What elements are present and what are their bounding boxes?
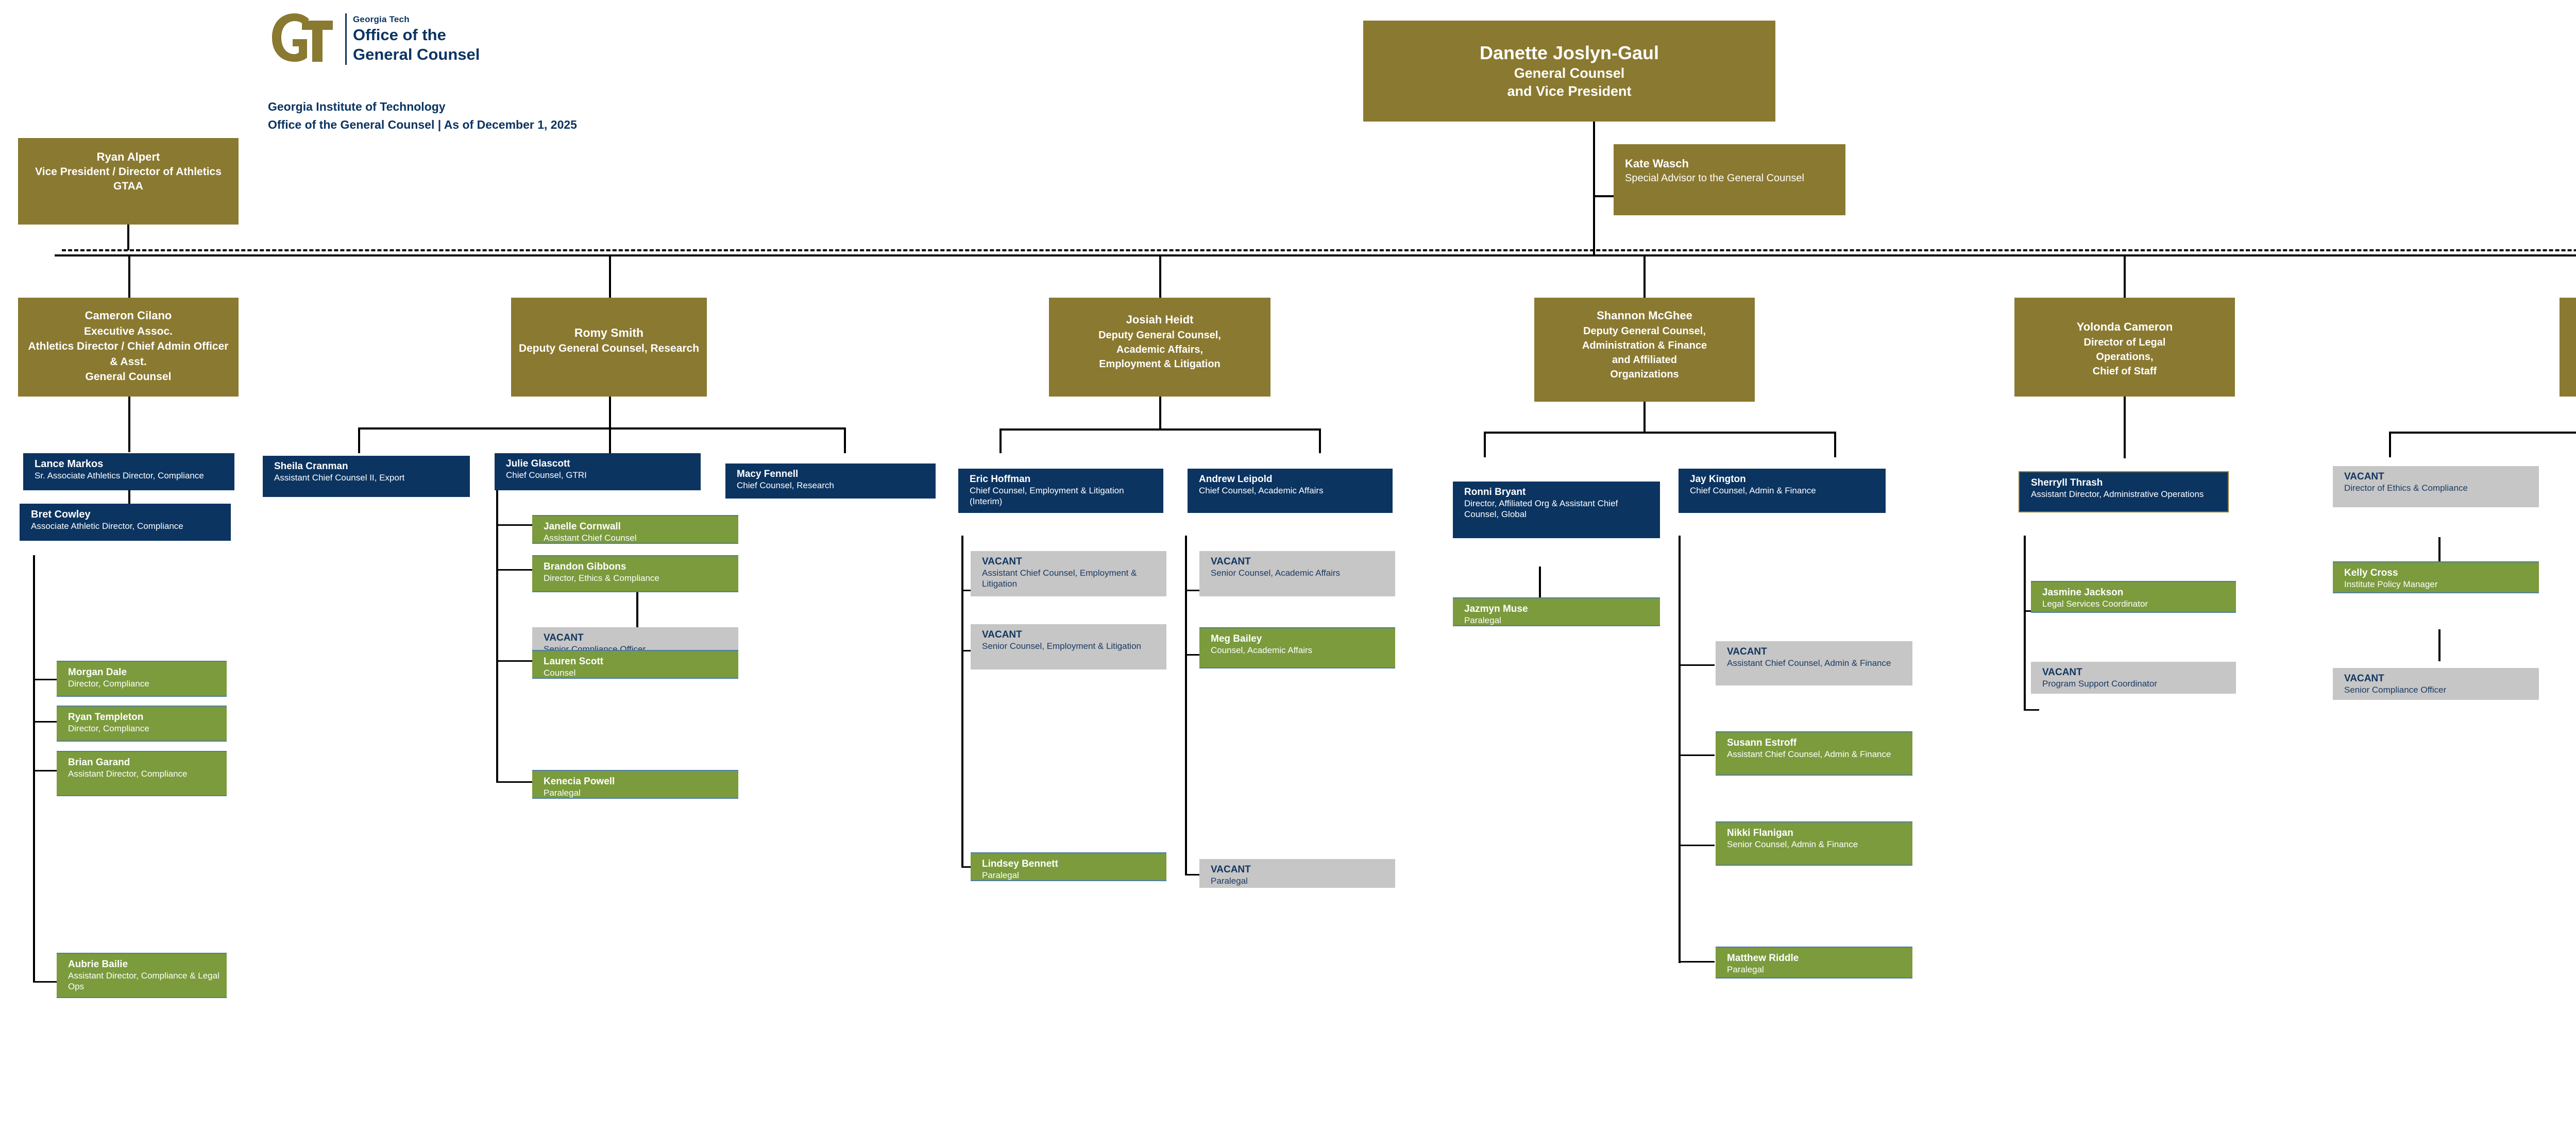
connector <box>1679 664 1715 666</box>
node-title: Director, Ethics & Compliance <box>544 573 732 583</box>
connector <box>128 397 130 452</box>
node-shannon-mcghee[interactable]: Shannon McGhee Deputy General Counsel, A… <box>1534 298 1755 402</box>
node-eric-hoffman[interactable]: Eric Hoffman Chief Counsel, Employment &… <box>958 469 1163 513</box>
logo-top-line: Georgia Tech <box>353 14 480 25</box>
node-title: Chief Counsel, GTRI <box>506 470 694 480</box>
connector <box>999 428 1002 453</box>
node-name: Sherryll Thrash <box>2031 477 2222 489</box>
node-special-advisor[interactable]: Kate Wasch Special Advisor to the Genera… <box>1614 144 1845 215</box>
node-title: Assistant Chief Counsel II, Export <box>274 472 464 483</box>
node-name: Romy Smith <box>574 324 643 341</box>
node-title: Paralegal <box>982 870 1160 881</box>
connector-main-spine <box>55 254 2576 256</box>
connector <box>636 590 638 628</box>
connector <box>33 721 58 723</box>
connector <box>2124 254 2126 299</box>
node-jay-kington[interactable]: Jay Kington Chief Counsel, Admin & Finan… <box>1679 469 1886 513</box>
node-janelle-cornwall[interactable]: Janelle Cornwall Assistant Chief Counsel <box>532 515 738 544</box>
node-name: Ryan Alpert <box>97 149 160 165</box>
node-meg-bailey[interactable]: Meg Bailey Counsel, Academic Affairs <box>1199 627 1395 668</box>
node-name: Josiah Heidt <box>1126 312 1194 328</box>
connector <box>496 484 498 783</box>
node-name: VACANT <box>1211 864 1389 875</box>
connector <box>2024 536 2026 711</box>
connector <box>358 427 845 430</box>
logo-wordmark: Georgia Tech Office of the General Couns… <box>353 14 480 64</box>
node-vacant-program-support-coordinator[interactable]: VACANT Program Support Coordinator <box>2031 662 2236 694</box>
node-title: Special Advisor to the General Counsel <box>1625 171 1804 185</box>
node-title: Assistant Chief Counsel <box>544 533 732 543</box>
connector <box>1679 961 1715 963</box>
org-chart-canvas: Georgia Tech Office of the General Couns… <box>0 0 2576 1133</box>
node-name: Cameron Cilano <box>85 308 172 324</box>
node-title: Paralegal <box>1464 615 1654 626</box>
node-julie-glascott[interactable]: Julie Glascott Chief Counsel, GTRI <box>495 453 701 490</box>
node-name: Sheila Cranman <box>274 461 464 472</box>
connector <box>33 981 58 983</box>
node-title: Executive Assoc. Athletics Director / Ch… <box>23 324 233 385</box>
node-title: Assistant Chief Counsel, Admin & Finance <box>1727 749 1906 760</box>
connector <box>33 555 35 983</box>
node-name: Eric Hoffman <box>970 474 1157 485</box>
node-title: Associate Athletic Director, Compliance <box>31 521 225 531</box>
node-sherryll-thrash[interactable]: Sherryll Thrash Assistant Director, Admi… <box>2019 471 2229 512</box>
connector <box>1643 402 1646 434</box>
institution-name: Georgia Institute of Technology <box>268 98 711 116</box>
node-bret-cowley[interactable]: Bret Cowley Associate Athletic Director,… <box>20 504 231 541</box>
node-name: VACANT <box>1727 646 1906 658</box>
node-vacant-senior-compliance-officer-ethics[interactable]: VACANT Senior Compliance Officer <box>2333 668 2539 700</box>
node-macy-fennell[interactable]: Macy Fennell Chief Counsel, Research <box>725 463 936 499</box>
node-title: Counsel, Academic Affairs <box>1211 645 1389 656</box>
node-kelly-cross[interactable]: Kelly Cross Institute Policy Manager <box>2333 561 2539 593</box>
node-lance-markos[interactable]: Lance Markos Sr. Associate Athletics Dir… <box>23 453 234 490</box>
node-title: Institute Policy Manager <box>2344 579 2533 590</box>
node-matthew-riddle[interactable]: Matthew Riddle Paralegal <box>1716 947 1912 978</box>
node-name: Susann Estroff <box>1727 737 1906 749</box>
connector <box>1679 754 1715 756</box>
office-and-date: Office of the General Counsel | As of De… <box>268 116 711 134</box>
connector <box>33 679 58 680</box>
node-title: Deputy General Counsel, Research <box>519 341 699 356</box>
node-title: Assistant Director, Administrative Opera… <box>2031 489 2222 500</box>
connector <box>1159 397 1161 430</box>
node-title: Paralegal <box>544 787 732 798</box>
node-name: VACANT <box>2344 471 2533 483</box>
connector <box>609 397 611 428</box>
connector <box>2438 629 2441 661</box>
connector <box>1484 432 1834 434</box>
node-title: Counsel <box>544 667 732 678</box>
node-susann-estroff[interactable]: Susann Estroff Assistant Chief Counsel, … <box>1716 731 1912 776</box>
node-name: VACANT <box>544 632 732 644</box>
node-title: Director of Ethics & Compliance <box>2344 483 2533 493</box>
node-name: Aubrie Bailie <box>68 959 221 970</box>
connector <box>1185 536 1187 875</box>
node-name: Matthew Riddle <box>1727 953 1906 964</box>
node-name: Brandon Gibbons <box>544 561 732 573</box>
connector <box>1484 432 1486 457</box>
node-vacant-acc-admin-finance[interactable]: VACANT Assistant Chief Counsel, Admin & … <box>1716 641 1912 685</box>
node-general-counsel[interactable]: Danette Joslyn-Gaul General Counsel and … <box>1363 21 1775 122</box>
connector <box>128 254 130 299</box>
node-title: Senior Counsel, Academic Affairs <box>1211 568 1389 578</box>
node-kenecia-powell[interactable]: Kenecia Powell Paralegal <box>532 770 738 799</box>
node-jasmine-jackson[interactable]: Jasmine Jackson Legal Services Coordinat… <box>2031 581 2236 613</box>
connector <box>609 254 611 299</box>
connector <box>844 427 846 453</box>
node-ryan-templeton[interactable]: Ryan Templeton Director, Compliance <box>57 706 227 742</box>
georgia-tech-gt-mark <box>268 9 340 66</box>
node-brandon-gibbons[interactable]: Brandon Gibbons Director, Ethics & Compl… <box>532 555 738 592</box>
node-name: Kelly Cross <box>2344 568 2533 579</box>
node-sheila-cranman[interactable]: Sheila Cranman Assistant Chief Counsel I… <box>263 456 470 497</box>
node-name: VACANT <box>1211 556 1389 568</box>
connector <box>1185 590 1199 591</box>
connector <box>496 660 532 662</box>
node-name: Yolonda Cameron <box>2077 319 2173 335</box>
node-vacant-director-ethics-compliance[interactable]: VACANT Director of Ethics & Compliance <box>2333 466 2539 507</box>
logo-line-3: General Counsel <box>353 45 480 64</box>
node-vacant-senior-counsel-employment-litigation[interactable]: VACANT Senior Counsel, Employment & Liti… <box>971 624 1166 669</box>
logo-line-2: Office of the <box>353 25 480 45</box>
connector <box>1185 654 1199 656</box>
node-title: Director, Affiliated Org & Assistant Chi… <box>1464 498 1654 520</box>
node-name: Nikki Flanigan <box>1727 828 1906 839</box>
node-jazmyn-muse[interactable]: Jazmyn Muse Paralegal <box>1453 597 1660 626</box>
node-joshua-toas[interactable]: Joshua Toas Chief Ethics and Compliance … <box>2560 298 2576 397</box>
node-name: Kenecia Powell <box>544 776 732 787</box>
node-title: Paralegal <box>1727 964 1906 975</box>
connector <box>496 524 532 526</box>
connector <box>609 427 611 453</box>
node-name: Jasmine Jackson <box>2042 587 2230 598</box>
node-josiah-heidt[interactable]: Josiah Heidt Deputy General Counsel, Aca… <box>1049 298 1270 397</box>
node-romy-smith[interactable]: Romy Smith Deputy General Counsel, Resea… <box>511 298 707 397</box>
node-title: Paralegal <box>1211 875 1389 886</box>
connector <box>1679 845 1715 846</box>
node-title: Assistant Director, Compliance <box>68 768 221 779</box>
node-ronni-bryant[interactable]: Ronni Bryant Director, Affiliated Org & … <box>1453 482 1660 538</box>
node-title: Assistant Chief Counsel, Employment & Li… <box>982 568 1160 590</box>
node-name: Andrew Leipold <box>1199 474 1386 485</box>
node-name: Ryan Templeton <box>68 712 221 723</box>
node-name: VACANT <box>2344 673 2533 684</box>
node-title: Sr. Associate Athletics Director, Compli… <box>35 470 228 481</box>
node-name: Kate Wasch <box>1625 157 1689 171</box>
node-name: VACANT <box>982 556 1160 568</box>
node-title: Assistant Director, Compliance & Legal O… <box>68 970 221 992</box>
node-ryan-alpert[interactable]: Ryan Alpert Vice President / Director of… <box>18 138 239 225</box>
node-name: Ronni Bryant <box>1464 487 1654 498</box>
node-vacant-paralegal-academic-affairs[interactable]: VACANT Paralegal <box>1199 859 1395 888</box>
connector <box>1319 428 1321 453</box>
node-title: Chief Counsel, Research <box>737 480 929 491</box>
node-name: Bret Cowley <box>31 509 225 521</box>
node-title: Senior Counsel, Admin & Finance <box>1727 839 1906 850</box>
node-title: Director of Legal Operations, Chief of S… <box>2084 335 2166 379</box>
connector <box>1643 254 1646 299</box>
node-aubrie-bailie[interactable]: Aubrie Bailie Assistant Director, Compli… <box>57 953 227 998</box>
node-title: Program Support Coordinator <box>2042 678 2230 689</box>
node-name: VACANT <box>982 629 1160 641</box>
node-morgan-dale[interactable]: Morgan Dale Director, Compliance <box>57 661 227 697</box>
node-title: General Counsel and Vice President <box>1507 64 1631 100</box>
connector <box>2124 397 2126 458</box>
node-name: Brian Garand <box>68 757 221 768</box>
connector <box>1539 566 1541 598</box>
node-name: Jazmyn Muse <box>1464 604 1654 615</box>
node-name: Danette Joslyn-Gaul <box>1480 41 1659 64</box>
node-brian-garand[interactable]: Brian Garand Assistant Director, Complia… <box>57 751 227 796</box>
connector <box>1834 432 1836 457</box>
node-name: Shannon McGhee <box>1597 308 1692 324</box>
node-title: Legal Services Coordinator <box>2042 598 2230 609</box>
node-title: Director, Compliance <box>68 723 221 734</box>
node-vacant-senior-counsel-academic-affairs[interactable]: VACANT Senior Counsel, Academic Affairs <box>1199 551 1395 596</box>
node-nikki-flanigan[interactable]: Nikki Flanigan Senior Counsel, Admin & F… <box>1716 821 1912 866</box>
connector <box>358 427 360 453</box>
node-name: VACANT <box>2042 667 2230 678</box>
connector <box>1679 536 1681 963</box>
logo-divider <box>345 13 347 65</box>
node-name: Jay Kington <box>1690 474 1879 485</box>
node-vacant-acc-employment-litigation[interactable]: VACANT Assistant Chief Counsel, Employme… <box>971 551 1166 596</box>
connector <box>1593 195 1614 197</box>
node-title: Senior Counsel, Employment & Litigation <box>982 641 1160 651</box>
node-name: Julie Glascott <box>506 458 694 470</box>
node-title: Chief Counsel, Employment & Litigation (… <box>970 485 1157 507</box>
node-title: Deputy General Counsel, Academic Affairs… <box>1098 328 1221 371</box>
node-title: Vice President / Director of Athletics G… <box>35 165 222 194</box>
node-name: Morgan Dale <box>68 667 221 678</box>
node-name: Janelle Cornwall <box>544 521 732 533</box>
connector <box>2024 709 2039 711</box>
connector <box>2389 432 2576 434</box>
node-name: Meg Bailey <box>1211 633 1389 645</box>
connector <box>961 536 963 868</box>
dotted-dual-report-line <box>62 249 2576 251</box>
connector <box>1159 254 1161 299</box>
node-name: Lauren Scott <box>544 656 732 667</box>
node-name: Lance Markos <box>35 458 228 470</box>
node-title: Assistant Chief Counsel, Admin & Finance <box>1727 658 1906 668</box>
node-title: Director, Compliance <box>68 678 221 689</box>
connector <box>1185 874 1199 875</box>
connector <box>2389 432 2391 457</box>
node-title: Senior Compliance Officer <box>2344 684 2533 695</box>
connector <box>33 770 58 771</box>
node-title: Chief Counsel, Admin & Finance <box>1690 485 1879 496</box>
node-name: Lindsey Bennett <box>982 859 1160 870</box>
node-andrew-leipold[interactable]: Andrew Leipold Chief Counsel, Academic A… <box>1188 469 1393 513</box>
node-lindsey-bennett[interactable]: Lindsey Bennett Paralegal <box>971 852 1166 881</box>
connector <box>496 569 532 571</box>
node-title: Chief Counsel, Academic Affairs <box>1199 485 1386 496</box>
node-title: Deputy General Counsel, Administration &… <box>1582 324 1707 382</box>
node-cameron-cilano[interactable]: Cameron Cilano Executive Assoc. Athletic… <box>18 298 239 397</box>
chart-subtitle: Georgia Institute of Technology Office o… <box>268 98 711 133</box>
node-lauren-scott[interactable]: Lauren Scott Counsel <box>532 650 738 679</box>
connector <box>496 781 532 783</box>
connector <box>127 224 129 250</box>
node-yolonda-cameron[interactable]: Yolonda Cameron Director of Legal Operat… <box>2014 298 2235 397</box>
connector <box>1593 122 1595 255</box>
node-name: Macy Fennell <box>737 469 929 480</box>
